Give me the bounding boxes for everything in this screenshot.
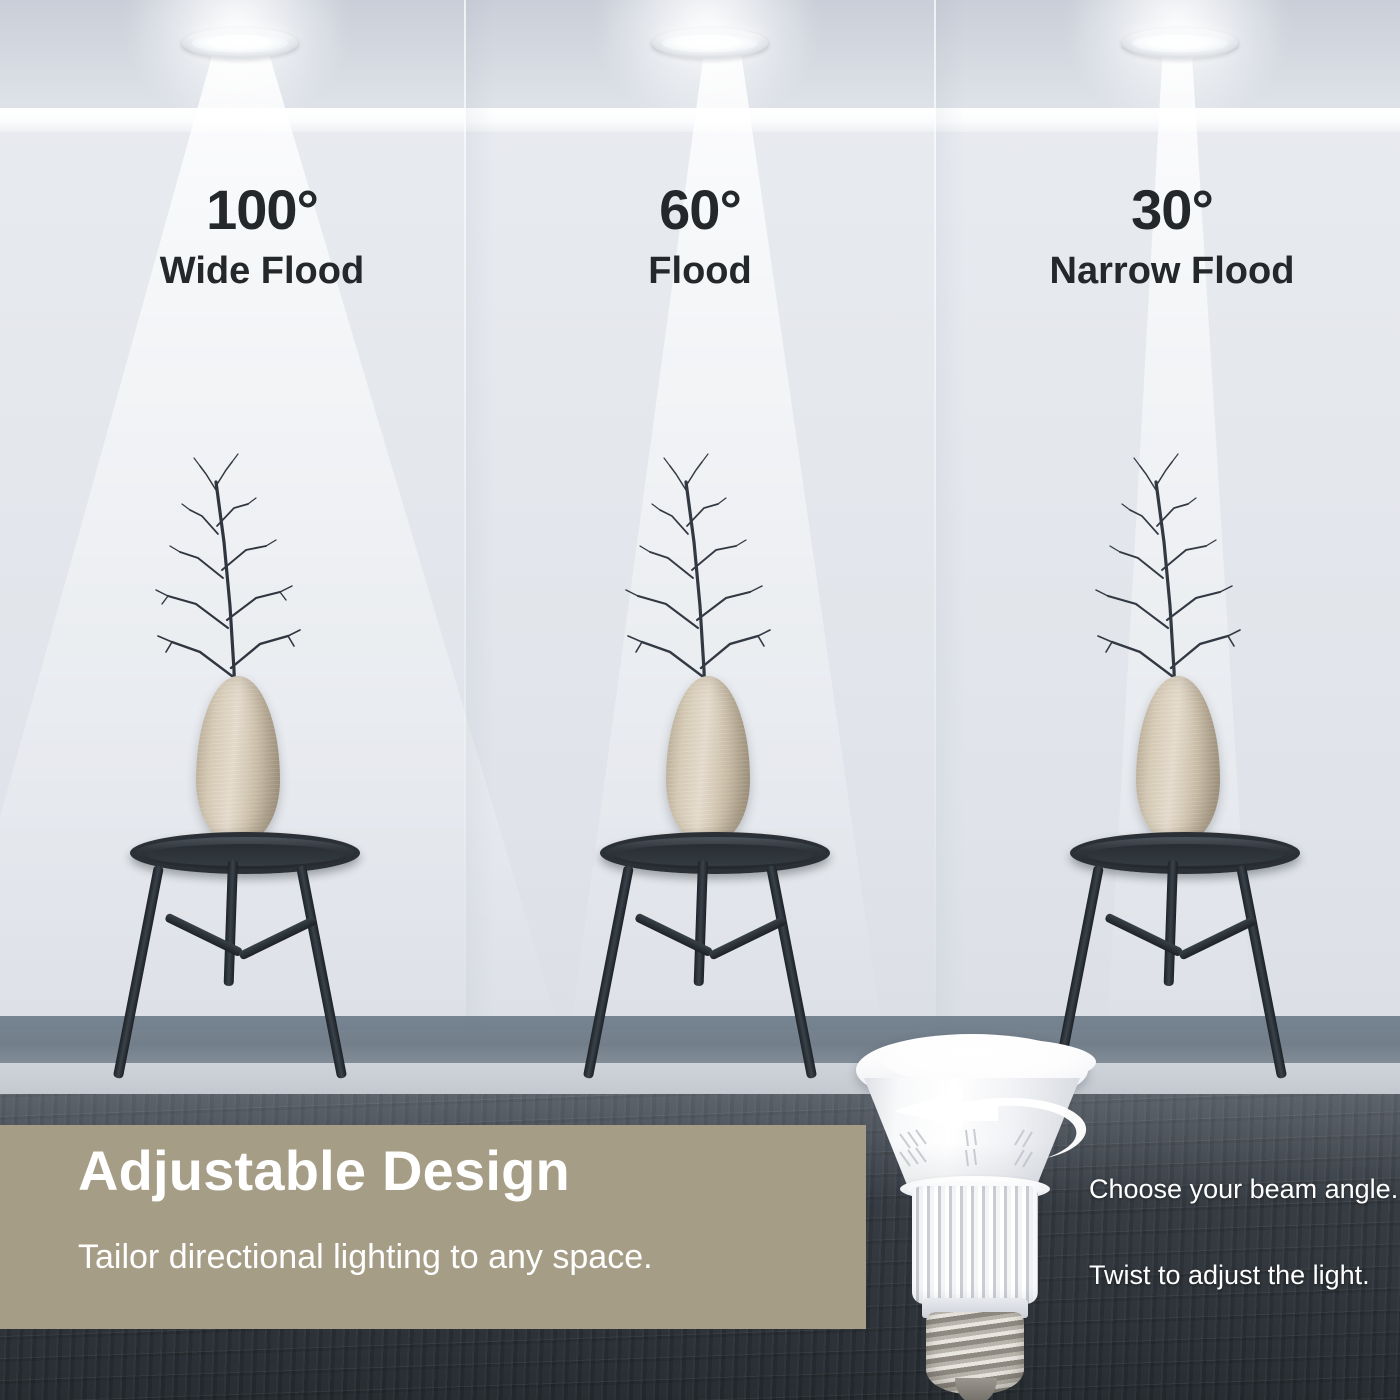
table-leg bbox=[113, 865, 164, 1079]
scene-flood bbox=[580, 700, 880, 1120]
fixture-lens bbox=[1132, 33, 1228, 53]
beam-label-flood: 60° Flood bbox=[502, 182, 898, 290]
adjustable-design-banner: Adjustable Design Tailor directional lig… bbox=[0, 1125, 866, 1329]
table-brace bbox=[238, 916, 317, 961]
banner-title: Adjustable Design bbox=[78, 1143, 570, 1199]
table-leg bbox=[1164, 860, 1178, 986]
table-brace bbox=[708, 916, 787, 961]
recessed-downlight-1 bbox=[182, 28, 298, 58]
table-leg bbox=[296, 865, 347, 1079]
side-table-inner bbox=[147, 844, 343, 866]
table-leg bbox=[583, 865, 634, 1079]
table-leg bbox=[1236, 865, 1287, 1079]
table-brace bbox=[1178, 916, 1257, 961]
beam-name: Wide Flood bbox=[62, 252, 462, 290]
product-infographic: 100° Wide Flood 60° Flood 30° Narrow Flo… bbox=[0, 0, 1400, 1400]
note-twist-to-adjust: Twist to adjust the light. bbox=[1089, 1258, 1370, 1293]
scene-wide-flood bbox=[110, 700, 410, 1120]
bulb-heatsink bbox=[912, 1186, 1038, 1304]
side-table-top bbox=[600, 832, 830, 874]
beam-label-narrow-flood: 30° Narrow Flood bbox=[972, 182, 1372, 290]
side-table-top bbox=[1070, 832, 1300, 874]
beam-degrees: 100° bbox=[62, 182, 462, 238]
side-table-top bbox=[130, 832, 360, 874]
banner-subtitle: Tailor directional lighting to any space… bbox=[78, 1236, 653, 1279]
recessed-downlight-2 bbox=[652, 28, 768, 58]
fixture-lens bbox=[662, 33, 758, 53]
bulb-base-tip bbox=[955, 1378, 997, 1400]
beam-name: Narrow Flood bbox=[972, 252, 1372, 290]
beam-degrees: 60° bbox=[502, 182, 898, 238]
side-table-inner bbox=[617, 844, 813, 866]
beam-label-wide-flood: 100° Wide Flood bbox=[62, 182, 462, 290]
rotation-arrow-icon bbox=[838, 1070, 1118, 1180]
beam-name: Flood bbox=[502, 252, 898, 290]
ceiling-edge bbox=[0, 108, 1400, 132]
table-leg bbox=[766, 865, 817, 1079]
panel-divider-1 bbox=[464, 0, 466, 1030]
panel-divider-2 bbox=[934, 0, 936, 1030]
table-leg bbox=[224, 860, 238, 986]
side-table-inner bbox=[1087, 844, 1283, 866]
beam-degrees: 30° bbox=[972, 182, 1372, 238]
note-choose-beam-angle: Choose your beam angle. bbox=[1089, 1172, 1398, 1207]
product-bulb bbox=[838, 1026, 1118, 1400]
fixture-lens bbox=[192, 33, 288, 53]
table-leg bbox=[694, 860, 708, 986]
recessed-downlight-3 bbox=[1122, 28, 1238, 58]
